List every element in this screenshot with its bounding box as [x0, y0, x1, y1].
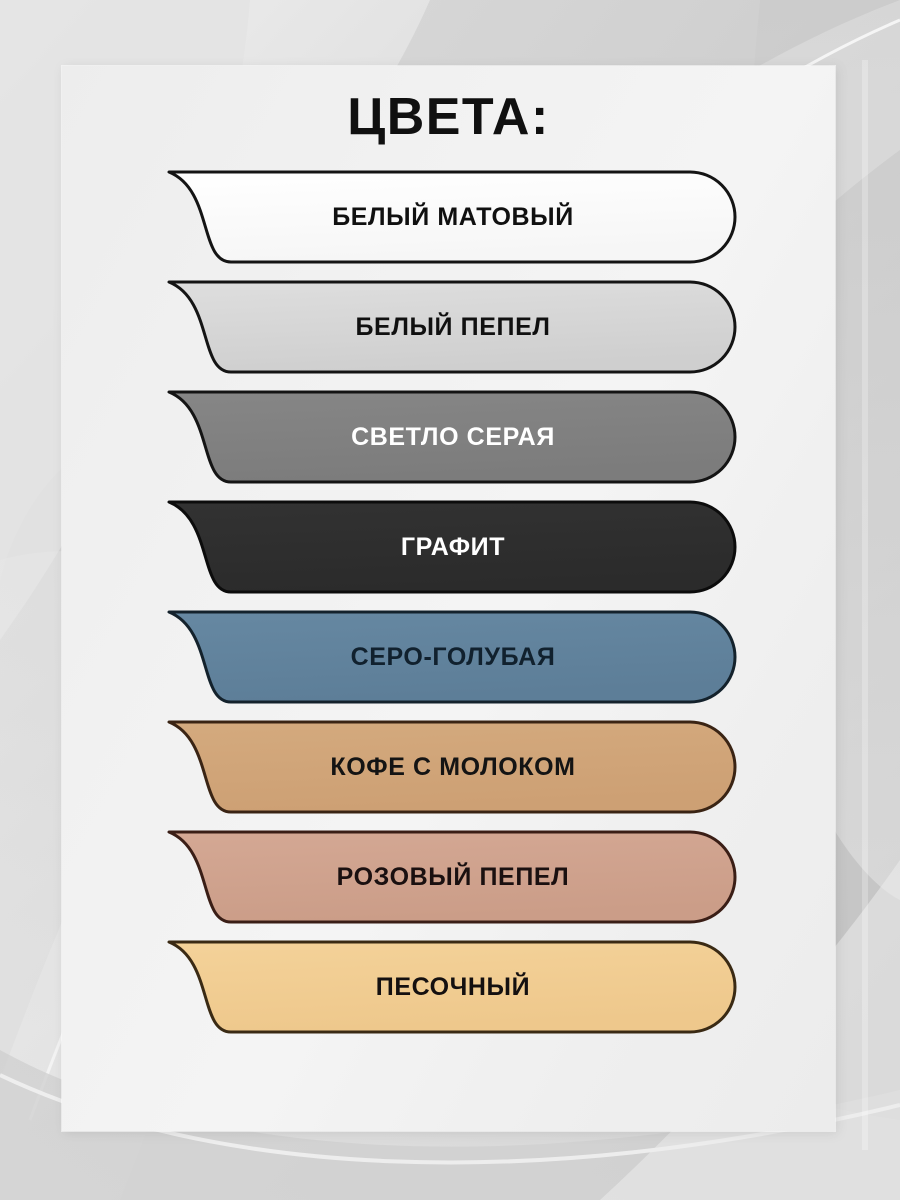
swatch-fill: [169, 392, 735, 482]
swatch-shape: [169, 390, 737, 484]
swatch-fill: [169, 612, 735, 702]
page-title: ЦВЕТА:: [62, 91, 835, 143]
swatch-shape: [169, 830, 737, 924]
color-swatch-list: БЕЛЫЙ МАТОВЫЙБЕЛЫЙ ПЕПЕЛСВЕТЛО СЕРАЯГРАФ…: [62, 170, 835, 1110]
swatch-fill: [169, 172, 735, 262]
swatch-row[interactable]: СВЕТЛО СЕРАЯ: [169, 390, 737, 484]
swatch-shape: [169, 500, 737, 594]
swatch-shape: [169, 280, 737, 374]
swatch-fill: [169, 832, 735, 922]
swatch-shape: [169, 720, 737, 814]
colors-poster: ЦВЕТА: БЕЛЫЙ МАТОВЫЙБЕЛЫЙ ПЕПЕЛСВЕТЛО СЕ…: [0, 0, 900, 1200]
swatch-row[interactable]: БЕЛЫЙ ПЕПЕЛ: [169, 280, 737, 374]
swatch-fill: [169, 282, 735, 372]
swatch-row[interactable]: РОЗОВЫЙ ПЕПЕЛ: [169, 830, 737, 924]
swatch-row[interactable]: ПЕСОЧНЫЙ: [169, 940, 737, 1034]
swatch-row[interactable]: БЕЛЫЙ МАТОВЫЙ: [169, 170, 737, 264]
swatch-fill: [169, 942, 735, 1032]
swatch-shape: [169, 610, 737, 704]
swatch-fill: [169, 502, 735, 592]
swatch-row[interactable]: СЕРО-ГОЛУБАЯ: [169, 610, 737, 704]
swatch-row[interactable]: КОФЕ С МОЛОКОМ: [169, 720, 737, 814]
swatch-row[interactable]: ГРАФИТ: [169, 500, 737, 594]
swatch-shape: [169, 170, 737, 264]
swatch-shape: [169, 940, 737, 1034]
content-card: ЦВЕТА: БЕЛЫЙ МАТОВЫЙБЕЛЫЙ ПЕПЕЛСВЕТЛО СЕ…: [62, 66, 835, 1131]
swatch-fill: [169, 722, 735, 812]
